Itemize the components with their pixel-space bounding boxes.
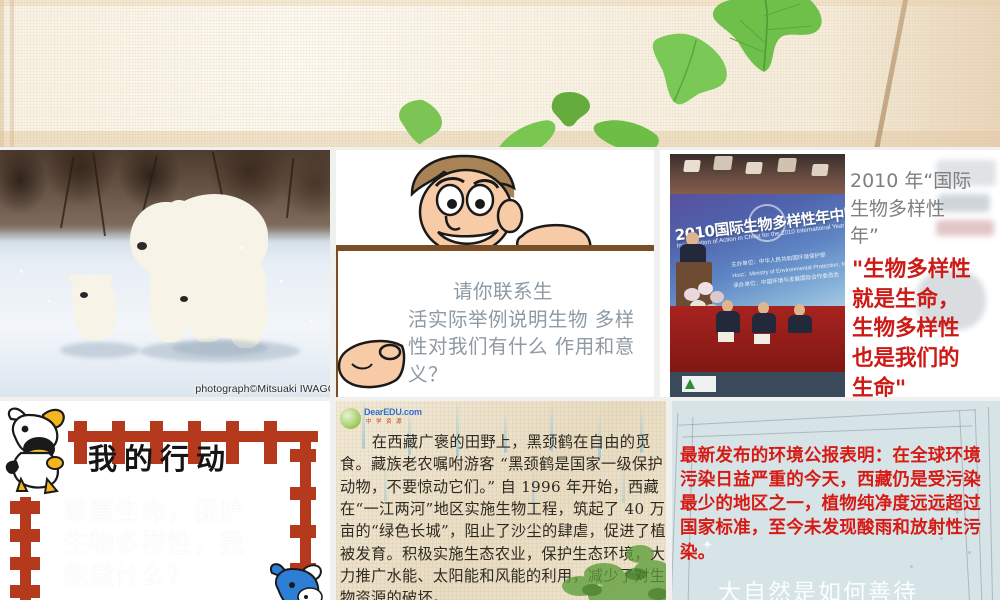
dearedu-subtitle: 中 学 资 源 <box>366 417 403 425</box>
dearedu-mark-icon <box>340 408 361 429</box>
panel-my-action: 我的行动 尊重生命，保护 生物多样性，我 能做什么？ <box>0 401 330 600</box>
ghost-prompt-text: 尊重生命，保护 生物多样性，我 能做什么？ <box>63 496 313 592</box>
ghost-line-2: 生物多样性，我 <box>63 528 313 560</box>
quote-line-5: 生命" <box>852 374 1000 397</box>
year-heading-line-1: 2010 年“国际 <box>850 168 1000 196</box>
panel-tibet-text: DearEDU.com 中 学 资 源 在西藏广褒的田野上，黑颈鹤在自由的觅食。… <box>336 401 666 600</box>
quote-line-1: "生物多样性 <box>852 255 1000 285</box>
ivy-leaf-icon <box>588 106 666 147</box>
ghost-line-1: 尊重生命，保护 <box>63 496 313 528</box>
year-heading-line-3: 年” <box>850 223 1000 251</box>
dearedu-logo: DearEDU.com 中 学 资 源 <box>338 405 434 431</box>
question-line-1: 请你联系生 <box>408 278 640 306</box>
year-heading-line-2: 生物多样性 <box>850 196 1000 224</box>
panel-conference: 2010国际生物多样性年中国行动启动仪式 Inauguration of Act… <box>660 150 1000 397</box>
photo-credit: photograph©Mitsuaki IWAGO <box>195 383 330 395</box>
quote-line-4: 也是我们的 <box>852 344 1000 374</box>
quote-line-3: 生物多样性 <box>852 314 1000 344</box>
panel-question-sign: 请你联系生 活实际举例说明生物 多样性对我们有什么 作用和意义？ <box>336 150 654 397</box>
row-gap <box>0 147 1000 150</box>
quote-line-2: 就是生命， <box>852 285 1000 315</box>
question-text: 请你联系生 活实际举例说明生物 多样性对我们有什么 作用和意义？ <box>408 278 640 389</box>
biodiversity-quote: "生物多样性 就是生命， 生物多样性 也是我们的 生命" <box>852 255 1000 397</box>
banner-right-fade <box>830 0 1000 147</box>
ivy-leaf-icon <box>481 109 568 147</box>
panel-gap <box>330 148 336 600</box>
slide-canvas: photograph©Mitsuaki IWAGO <box>0 0 1000 600</box>
cow-white-icon <box>3 403 71 501</box>
panel-polar-bear-photo: photograph©Mitsuaki IWAGO <box>0 150 330 397</box>
dearedu-wordmark: DearEDU.com <box>364 407 422 417</box>
panel-environment-bulletin: ✦ ✦ ✦ 最新发布的环境公报表明：在全球环境污染日益严重的今天，西藏仍是受污染… <box>672 401 1000 600</box>
question-line-2: 活实际举例说明生物 <box>408 308 588 331</box>
panel-gap <box>666 399 672 600</box>
row-gap <box>0 397 1000 401</box>
floor-sign <box>682 376 716 392</box>
section-title: 我的行动 <box>88 436 232 478</box>
ivy-leaf-icon <box>392 94 452 147</box>
decorative-banner <box>0 0 1000 147</box>
conference-photo: 2010国际生物多样性年中国行动启动仪式 Inauguration of Act… <box>670 154 845 397</box>
shrub-icon <box>552 512 666 600</box>
panel-gap <box>654 148 660 398</box>
ghost-line-3: 能做什么？ <box>63 560 313 592</box>
bulletin-ghost-text: 大自然是如何善待 <box>718 573 998 600</box>
bulletin-body-text: 最新发布的环境公报表明：在全球环境污染日益严重的今天，西藏仍是受污染最少的地区之… <box>680 444 996 565</box>
hand-left-icon <box>336 336 408 397</box>
year-heading: 2010 年“国际 生物多样性 年” <box>850 168 1000 251</box>
